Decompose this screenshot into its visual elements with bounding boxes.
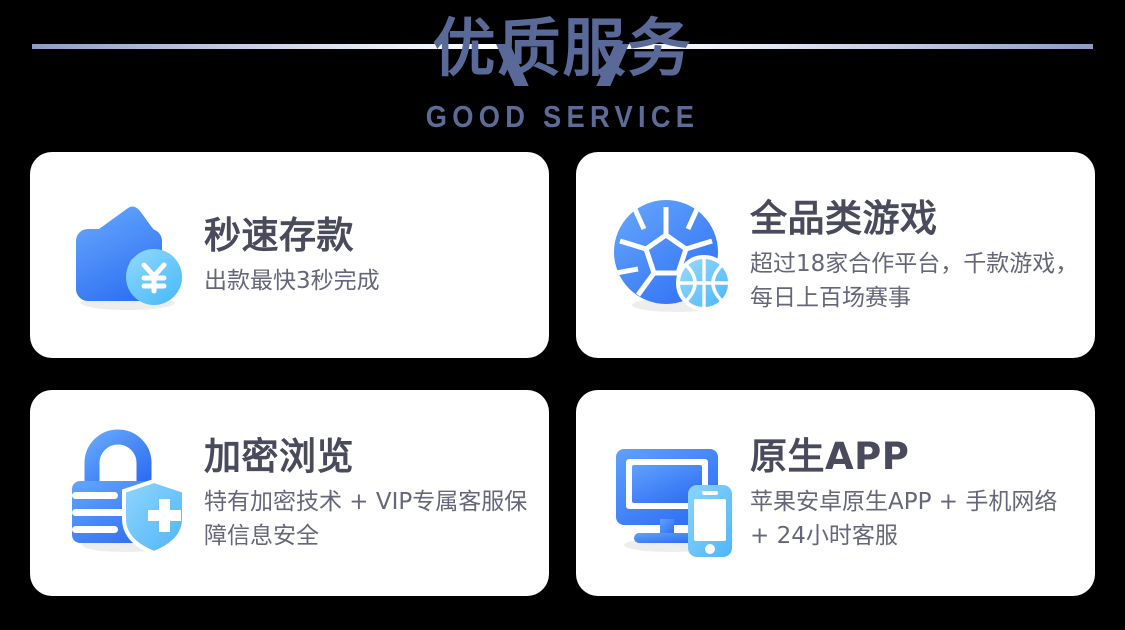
feature-card-text: 全品类游戏 超过18家合作平台，千款游戏，每日上百场赛事 bbox=[744, 196, 1090, 315]
feature-card-text: 原生APP 苹果安卓原生APP + 手机网络 + 24小时客服 bbox=[744, 434, 1090, 553]
card-subtitle: 超过18家合作平台，千款游戏，每日上百场赛事 bbox=[750, 247, 1080, 315]
feature-card-deposit[interactable]: 秒速存款 出款最快3秒完成 bbox=[30, 152, 549, 358]
promo-banner: 优质服务 GOOD SERVICE bbox=[0, 0, 1125, 630]
page-subtitle: GOOD SERVICE bbox=[68, 98, 1058, 136]
feature-card-text: 加密浏览 特有加密技术 + VIP专属客服保障信息安全 bbox=[198, 434, 544, 553]
page-title: 优质服务 bbox=[0, 6, 1125, 92]
soccer-basketball-icon bbox=[604, 185, 744, 325]
feature-card-native-app[interactable]: 原生APP 苹果安卓原生APP + 手机网络 + 24小时客服 bbox=[576, 390, 1095, 596]
wallet-coin-icon bbox=[58, 185, 198, 325]
feature-card-games[interactable]: 全品类游戏 超过18家合作平台，千款游戏，每日上百场赛事 bbox=[576, 152, 1095, 358]
lock-shield-icon bbox=[58, 423, 198, 563]
card-subtitle: 出款最快3秒完成 bbox=[204, 264, 380, 298]
card-subtitle: 特有加密技术 + VIP专属客服保障信息安全 bbox=[204, 485, 534, 553]
feature-card-grid: 秒速存款 出款最快3秒完成 bbox=[30, 152, 1095, 596]
card-title: 全品类游戏 bbox=[750, 196, 1080, 242]
card-title: 秒速存款 bbox=[204, 213, 380, 259]
card-title: 原生APP bbox=[750, 434, 1080, 480]
banner-header: 优质服务 GOOD SERVICE bbox=[0, 0, 1125, 145]
feature-card-text: 秒速存款 出款最快3秒完成 bbox=[198, 213, 390, 298]
feature-card-encryption[interactable]: 加密浏览 特有加密技术 + VIP专属客服保障信息安全 bbox=[30, 390, 549, 596]
card-title: 加密浏览 bbox=[204, 434, 534, 480]
monitor-phone-icon bbox=[604, 423, 744, 563]
card-subtitle: 苹果安卓原生APP + 手机网络 + 24小时客服 bbox=[750, 485, 1080, 553]
